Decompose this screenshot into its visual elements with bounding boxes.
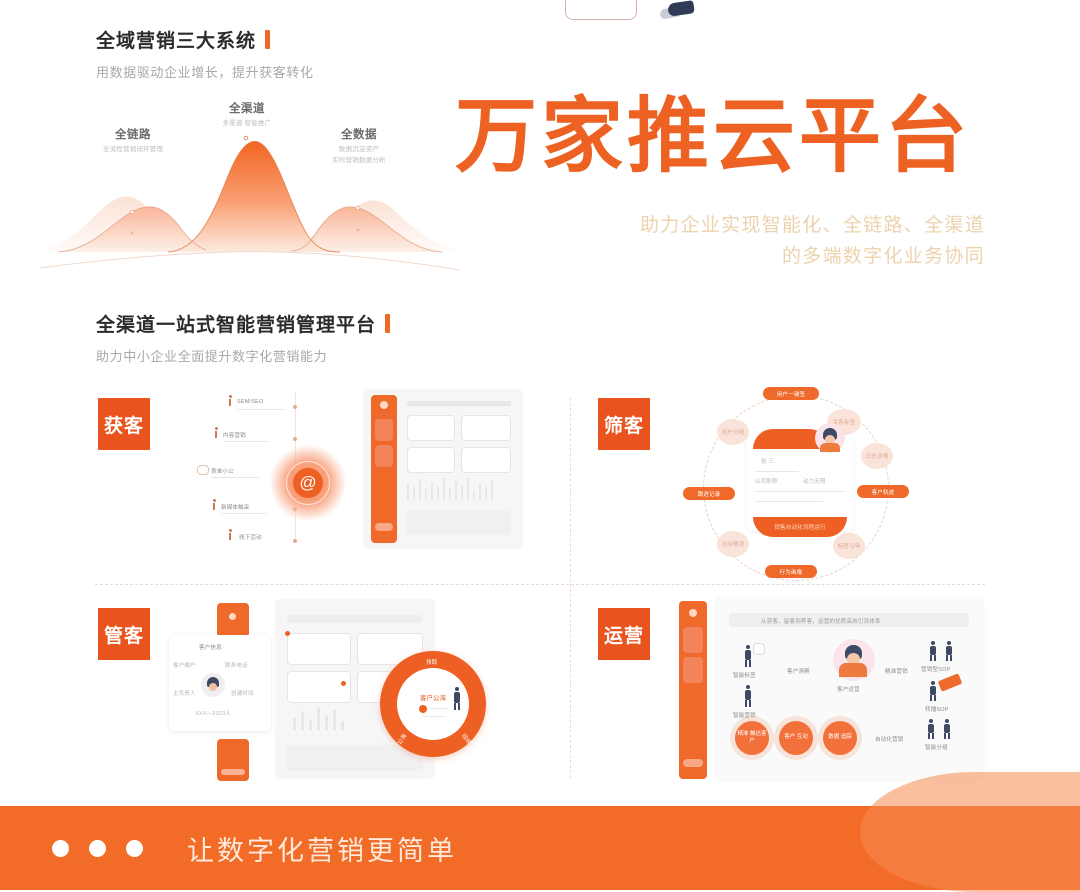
dashboard-bar — [479, 483, 481, 501]
feature-cell-manage[interactable]: 管客 客户信息 客户编户 联系电话 — [40, 588, 540, 798]
badge-operate: 运营 — [598, 608, 650, 660]
channel-label-newmedia: 新媒体触采 — [221, 503, 250, 511]
ring-pill-0[interactable]: 用户一键签 — [763, 387, 819, 400]
chart-peak-3-name: 全数据 — [284, 126, 434, 142]
dashboard-bar — [301, 711, 304, 731]
dashboard-card — [287, 671, 351, 703]
dashboard-topbar — [287, 615, 423, 623]
ring-pill-5[interactable]: 跟进记录 — [683, 487, 735, 500]
donut-cap-0: 领取 — [426, 658, 437, 666]
dashboard-card — [461, 447, 511, 473]
accent-tick-icon — [265, 30, 270, 49]
customer-date: XXX—2023人 — [195, 709, 231, 717]
op-label-left-0: 智能标签 — [733, 671, 756, 679]
footer-dots — [52, 840, 143, 857]
channel-label-form: 表单小公 — [211, 467, 234, 475]
figure-icon-left-2 — [741, 685, 755, 707]
op-label-right-0: 营销型SOP — [921, 665, 950, 673]
illustration-manage: 客户信息 客户编户 联系电话 主负责人 创建时间 XXX—2023人 客户公海 … — [175, 593, 525, 793]
chart-peak-3-desc-1: 数据沉淀资产 — [284, 145, 434, 155]
avatar-body-icon — [820, 443, 840, 452]
footer-dot-icon — [52, 840, 69, 857]
dashboard-footer-block — [287, 745, 423, 771]
dashboard-bar — [341, 721, 344, 731]
footer-dot-icon — [89, 840, 106, 857]
chart-peak-1-desc: 全流程营销闭环管理 — [58, 145, 208, 155]
donut-label: 客户公海 — [420, 692, 446, 702]
card-field-0: 公司职称 — [755, 477, 778, 485]
guide-node — [293, 405, 297, 409]
op-label-center-1: 客户洞察 — [787, 667, 810, 675]
chart-marker-2 — [244, 136, 248, 140]
dashboard-bar — [443, 477, 445, 501]
sidebar-item[interactable] — [683, 627, 703, 653]
three-systems-area-chart: 全链路 全流程营销闭环管理 全渠道 多渠道 智能推广 全数据 数据沉淀资产 实时… — [40, 100, 460, 275]
ring-pill-8[interactable]: 行为画像 — [765, 565, 817, 578]
feature-quadrant-grid: 获客 SEM/SEO 内容营销 表单小公 新媒体触采 线下活动 — [40, 378, 1040, 798]
op-label-left-1: 智能营销 — [733, 711, 756, 719]
donut-rule — [430, 708, 448, 709]
op-label-right-1: 转播SOP — [925, 705, 949, 713]
donut-person-icon — [419, 705, 427, 713]
dashboard-card — [287, 633, 351, 665]
accent-node — [341, 681, 346, 686]
sidebar-item — [375, 445, 393, 467]
chart-peak-label-2: 全渠道 多渠道 智能推广 — [172, 100, 322, 129]
platform-section-title: 全渠道一站式智能营销管理平台 — [96, 310, 390, 337]
dashboard-bar — [491, 480, 493, 501]
op-circle-0[interactable]: 精准 触达客户 — [735, 721, 769, 755]
card-rule — [755, 471, 799, 472]
dashboard-bar — [309, 719, 312, 731]
channel-icon-newmedia — [209, 499, 219, 515]
channel-label-content: 内容营销 — [223, 431, 246, 439]
chart-marker-3 — [356, 206, 360, 210]
figure-icon-right-5 — [941, 719, 953, 739]
hero-section-title: 全域营销三大系统 — [96, 26, 314, 53]
donut-cap-1: 公海 — [395, 732, 408, 746]
center-avatar-body-icon — [839, 663, 867, 677]
sidebar-item — [375, 419, 393, 441]
illustration-operate: 从获客、留客到养客，运营的优质高效引流体系 智能标签 智能营销 客户运营 客户 — [675, 593, 1025, 793]
panel-header-text: 从获客、留客到养客，运营的优质高效引流体系 — [761, 617, 881, 625]
dashboard-bar — [455, 481, 457, 501]
central-orb: @ — [270, 445, 346, 521]
dashboard-bar — [333, 709, 336, 731]
op-circle-1[interactable]: 客户 互动 — [779, 721, 813, 755]
dashboard-bar — [431, 482, 433, 501]
page-title: 万家推云平台 — [455, 96, 971, 178]
ring-pill-2[interactable]: 日志详情 — [861, 443, 893, 469]
chart-peak-label-1: 全链路 全流程营销闭环管理 — [58, 126, 208, 155]
accent-tick-icon — [385, 314, 390, 333]
donut-cap-2: 回收 — [460, 732, 473, 746]
op-note: 自动化营销 — [875, 735, 904, 743]
dashboard-card — [407, 447, 455, 473]
channel-label-offline: 线下活动 — [239, 533, 262, 541]
ring-pill-3[interactable]: 客户轨迹 — [857, 485, 909, 498]
hero-section-subtitle: 用数据驱动企业增长，提升获客转化 — [96, 62, 314, 81]
chart-dot-1 — [131, 232, 134, 235]
hero-section-heading: 全域营销三大系统 用数据驱动企业增长，提升获客转化 — [96, 26, 314, 81]
channel-rule — [223, 441, 269, 442]
side-block-row — [221, 769, 245, 775]
customer-field-1: 联系电话 — [225, 661, 248, 669]
dashboard-card — [407, 415, 455, 441]
card-field-1: 动力无限 — [803, 477, 826, 485]
side-block-top — [217, 603, 249, 637]
chevron-outline-icon — [565, 0, 637, 20]
ring-pill-7[interactable]: 标签马甲 — [833, 533, 865, 559]
at-sign-icon: @ — [293, 468, 323, 498]
dashboard-bar — [293, 717, 296, 731]
figure-shoe-dark-icon — [667, 0, 695, 16]
figure-icon-right-4 — [925, 719, 937, 739]
platform-section-subtitle: 助力中小企业全面提升数字化营销能力 — [96, 346, 390, 365]
side-block-icon — [229, 613, 236, 620]
hero-tagline: 助力企业实现智能化、全链路、全渠道 的多端数字化业务协同 — [560, 210, 985, 273]
chart-dot-2 — [357, 229, 360, 232]
figure-icon-right-1 — [927, 641, 939, 661]
dashboard-bar — [473, 490, 475, 501]
accent-node — [285, 631, 290, 636]
illustration-acquire: SEM/SEO 内容营销 表单小公 新媒体触采 线下活动 — [175, 383, 525, 583]
figure-icon-right-3 — [927, 681, 939, 701]
footer-dot-icon — [126, 840, 143, 857]
badge-screen: 筛客 — [598, 398, 650, 450]
channel-icon-form — [197, 465, 209, 475]
feature-cell-acquire[interactable]: 获客 SEM/SEO 内容营销 表单小公 新媒体触采 线下活动 — [40, 378, 540, 588]
feature-cell-screen[interactable]: 筛客 用户一键签 关系标签 日志详情 客户轨迹 标签马甲 行为画像 访问情况 跟… — [540, 378, 1040, 588]
card-name: 张 三 — [761, 457, 774, 465]
customer-field-0: 客户编户 — [173, 661, 196, 669]
channel-rule — [211, 477, 259, 478]
footer-slogan: 让数字化营销更简单 — [187, 829, 457, 868]
ring-pill-4[interactable]: 访问情况 — [717, 531, 749, 557]
chart-baseline — [40, 252, 460, 270]
op-label-center-0: 客户运营 — [837, 685, 860, 693]
dashboard-bar — [407, 483, 409, 501]
guide-node — [293, 539, 297, 543]
chart-marker-1 — [130, 210, 134, 214]
badge-acquire: 获客 — [98, 398, 150, 450]
op-circle-2[interactable]: 数据 追踪 — [823, 721, 857, 755]
channel-label-sem-seo: SEM/SEO — [237, 399, 263, 405]
card-footer-banner: 销售自动化流程运行 — [753, 517, 847, 537]
customer-field-3: 创建时间 — [231, 689, 254, 697]
customer-avatar-face-icon — [209, 683, 217, 691]
footer-banner: 让数字化营销更简单 — [0, 806, 1080, 890]
footer-curve-decoration — [860, 772, 1080, 892]
channel-rule — [237, 409, 285, 410]
platform-section-heading: 全渠道一站式智能营销管理平台 助力中小企业全面提升数字化营销能力 — [96, 310, 390, 365]
hero-tagline-line-1: 助力企业实现智能化、全链路、全渠道 — [560, 210, 985, 241]
ring-pill-6[interactable]: 用户分组 — [717, 419, 749, 445]
dashboard-bar — [419, 479, 421, 501]
top-cropped-illustration — [0, 0, 1080, 22]
sidebar-item[interactable] — [683, 657, 703, 683]
donut-figure-icon — [451, 687, 463, 711]
channel-icon-content — [211, 427, 221, 443]
badge-manage: 管客 — [98, 608, 150, 660]
customer-card-title: 客户信息 — [199, 643, 222, 651]
dashboard-footer-block — [407, 511, 511, 535]
guide-node — [293, 437, 297, 441]
dashboard-bar — [413, 487, 415, 501]
channel-rule — [221, 513, 267, 514]
card-footer-text: 销售自动化流程运行 — [774, 523, 825, 531]
figure-icon-right-2 — [943, 641, 955, 661]
dashboard-bar — [325, 715, 328, 731]
dashboard-bar — [317, 707, 320, 731]
card-rule — [755, 491, 845, 492]
customer-pool-donut: 客户公海 领取 公海 回收 — [380, 651, 486, 757]
platform-section-title-text: 全渠道一站式智能营销管理平台 — [96, 310, 376, 337]
dashboard-bar — [461, 485, 463, 501]
dashboard-bar — [467, 478, 469, 501]
illustration-screen: 用户一键签 关系标签 日志详情 客户轨迹 标签马甲 行为画像 访问情况 跟进记录… — [675, 383, 1025, 583]
chart-peak-3-desc-2: 实时营销数据分析 — [284, 156, 434, 166]
sidebar-item[interactable] — [683, 759, 703, 767]
donut-center-row — [419, 705, 448, 713]
dashboard-bar — [449, 488, 451, 501]
card-rule — [755, 501, 823, 502]
chart-peak-label-3: 全数据 数据沉淀资产 实时营销数据分析 — [284, 126, 434, 166]
figure-prop-board — [753, 643, 765, 655]
feature-cell-operate[interactable]: 运营 从获客、留客到养客，运营的优质高效引流体系 智能标签 — [540, 588, 1040, 798]
sidebar-logo-icon — [689, 609, 697, 617]
channel-icon-offline — [225, 529, 235, 545]
dashboard-bar — [485, 487, 487, 501]
channel-icon-sem-seo — [225, 395, 235, 411]
sidebar-item — [375, 523, 393, 531]
chart-peak-2-name: 全渠道 — [172, 100, 322, 116]
donut-rule — [422, 716, 444, 717]
op-label-right-2: 智能分组 — [925, 743, 948, 751]
dashboard-bar — [425, 489, 427, 501]
dashboard-sidebar — [371, 395, 397, 543]
dashboard-bar — [437, 486, 439, 501]
hero-section-title-text: 全域营销三大系统 — [96, 26, 256, 53]
dashboard-topbar — [407, 401, 511, 406]
hero-tagline-line-2: 的多端数字化业务协同 — [560, 241, 985, 272]
customer-field-2: 主负责人 — [173, 689, 196, 697]
dashboard-card — [461, 415, 511, 441]
sidebar-logo-icon — [380, 401, 388, 409]
op-label-center-2: 精准营销 — [885, 667, 908, 675]
